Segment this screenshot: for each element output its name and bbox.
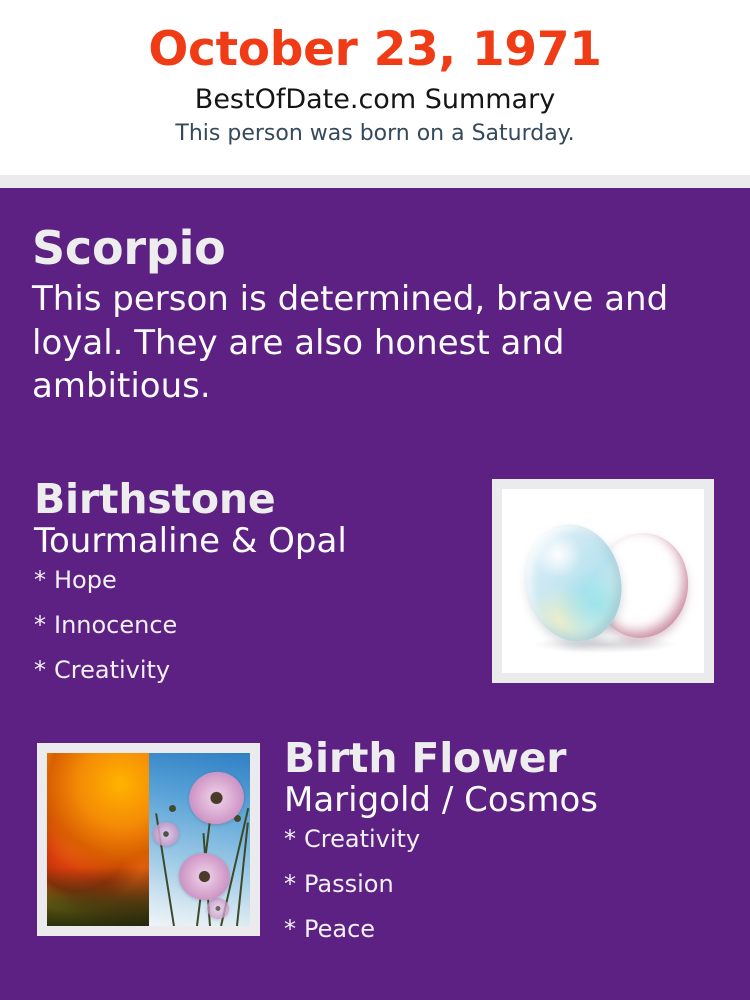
birth-flower-section: Birth Flower Marigold / Cosmos *Creativi… — [284, 737, 724, 962]
birth-flower-image — [47, 753, 250, 926]
weekday-line: This person was born on a Saturday. — [0, 115, 750, 146]
birthstone-trait-list: *Hope *Innocence *Creativity — [34, 560, 474, 703]
birthstone-image — [502, 489, 704, 673]
list-item: *Hope — [34, 568, 474, 613]
list-item: *Creativity — [34, 658, 474, 703]
list-item: *Creativity — [284, 827, 724, 872]
flower-illustration — [47, 753, 250, 926]
bullet-star-icon: * — [34, 658, 54, 682]
birth-flower-names: Marigold / Cosmos — [284, 780, 724, 819]
birthstone-trait-label: Creativity — [54, 656, 170, 684]
birthstone-section: Birthstone Tourmaline & Opal *Hope *Inno… — [34, 478, 474, 703]
bullet-star-icon: * — [34, 568, 54, 592]
list-item: *Innocence — [34, 613, 474, 658]
birth-flower-trait-label: Passion — [304, 870, 394, 898]
bullet-star-icon: * — [284, 872, 304, 896]
bullet-star-icon: * — [284, 917, 304, 941]
cosmos-flower-icon — [176, 850, 233, 904]
bullet-star-icon: * — [284, 827, 304, 851]
zodiac-sign-name: Scorpio — [32, 224, 702, 272]
header-divider — [0, 175, 750, 188]
site-name: BestOfDate.com Summary — [0, 77, 750, 115]
zodiac-description: This person is determined, brave and loy… — [32, 272, 692, 409]
birthstone-trait-label: Hope — [54, 566, 117, 594]
gemstone-illustration — [502, 489, 704, 673]
page-title-date: October 23, 1971 — [0, 0, 750, 77]
list-item: *Peace — [284, 917, 724, 962]
summary-page: October 23, 1971 BestOfDate.com Summary … — [0, 0, 750, 1000]
birthstone-trait-label: Innocence — [54, 611, 177, 639]
page-header: October 23, 1971 BestOfDate.com Summary … — [0, 0, 750, 175]
birth-flower-trait-label: Creativity — [304, 825, 420, 853]
cosmos-flower-icon — [151, 821, 180, 848]
birth-flower-trait-label: Peace — [304, 915, 375, 943]
birthstone-title: Birthstone — [34, 478, 474, 521]
birth-flower-title: Birth Flower — [284, 737, 724, 780]
gem-shadow — [534, 636, 675, 653]
marigold-photo-half — [47, 753, 149, 926]
birth-flower-trait-list: *Creativity *Passion *Peace — [284, 819, 724, 962]
birthstone-image-frame — [492, 479, 714, 683]
bullet-star-icon: * — [34, 613, 54, 637]
birth-flower-image-frame — [37, 743, 260, 936]
list-item: *Passion — [284, 872, 724, 917]
flower-bud — [169, 805, 176, 812]
zodiac-section: Scorpio This person is determined, brave… — [32, 224, 702, 409]
birthstone-stone-names: Tourmaline & Opal — [34, 521, 474, 560]
cosmos-photo-half — [149, 753, 251, 926]
